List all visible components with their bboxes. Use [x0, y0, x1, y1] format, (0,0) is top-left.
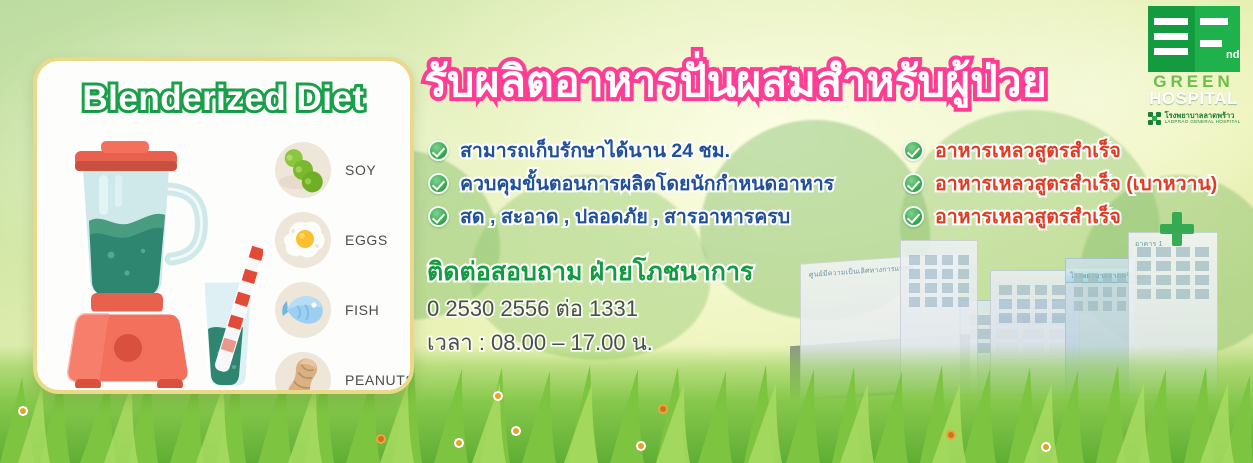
food-label: FISH: [345, 302, 379, 318]
logo-hospital-text: HOSPITAL: [1142, 90, 1245, 109]
feature-text: อาหารเหลวสูตรสำเร็จ: [935, 201, 1121, 232]
svg-text:nd: nd: [1226, 49, 1239, 61]
logo-hospital-name: โรงพยาบาลลาดพร้าว LADPRAO GENERAL HOSPIT…: [1142, 111, 1245, 126]
orange-flower: [370, 428, 392, 450]
food-label: EGGS: [345, 232, 388, 248]
feature-list-left: สามารถเก็บรักษาได้นาน 24 ชม. ควบคุมขั้นต…: [428, 136, 834, 235]
daisy-flower: [505, 420, 527, 442]
feature-item: อาหารเหลวสูตรสำเร็จ (เบาหวาน): [903, 169, 1217, 197]
building-sign-text: ศูนย์มีความเป็นเลิศทางการแพทย์: [809, 263, 913, 281]
contact-heading: ติดต่อสอบถาม ฝ่ายโภชนาการ: [427, 252, 753, 292]
feature-text: อาหารเหลวสูตรสำเร็จ (เบาหวาน): [935, 168, 1217, 199]
feature-text: สด , สะอาด , ปลอดภัย , สารอาหารครบ: [460, 201, 790, 232]
check-circle-icon: [428, 140, 449, 161]
page-title: รับผลิตอาหารปั่นผสมสำหรับผู้ป่วย: [424, 60, 1114, 105]
daisy-flower: [12, 400, 34, 422]
feature-text: ควบคุมขั้นตอนการผลิตโดยนักกำหนดอาหาร: [460, 168, 834, 199]
logo-green-text: GREEN: [1142, 73, 1245, 90]
food-list: SOY EGGS: [275, 135, 414, 394]
check-circle-icon: [903, 140, 924, 161]
feature-text: อาหารเหลวสูตรสำเร็จ: [935, 135, 1121, 166]
food-label: PEANUTS: [345, 372, 414, 388]
food-item-soy: SOY: [275, 135, 414, 205]
food-item-eggs: EGGS: [275, 205, 414, 275]
daisy-flower: [1035, 436, 1057, 458]
daisy-flower: [487, 385, 509, 407]
feature-item: ควบคุมขั้นตอนการผลิตโดยนักกำหนดอาหาร: [428, 169, 834, 197]
feature-item: สด , สะอาด , ปลอดภัย , สารอาหารครบ: [428, 202, 834, 230]
feature-item: อาหารเหลวสูตรสำเร็จ: [903, 136, 1217, 164]
feature-list-right: อาหารเหลวสูตรสำเร็จ อาหารเหลวสูตรสำเร็จ …: [903, 136, 1217, 235]
fish-icon: [275, 282, 331, 338]
blender-illustration: [53, 133, 263, 388]
banner-root: โรงพยาบาลลาดพร้าว อาคาร 1 ศูนย์มีความเป็…: [0, 0, 1253, 463]
check-circle-icon: [428, 206, 449, 227]
daisy-flower: [448, 432, 470, 454]
contact-hours: เวลา : 08.00 – 17.00 น.: [427, 325, 653, 360]
feature-item: อาหารเหลวสูตรสำเร็จ: [903, 202, 1217, 230]
hospital-logo[interactable]: nd GREEN HOSPITAL โรงพยาบาลลาดพร้าว LADP…: [1142, 6, 1245, 130]
feature-text: สามารถเก็บรักษาได้นาน 24 ชม.: [460, 135, 730, 166]
card-title: Blenderized Diet: [37, 79, 410, 119]
contact-phone[interactable]: 0 2530 2556 ต่อ 1331: [427, 291, 638, 326]
soy-icon: [275, 142, 331, 198]
food-item-peanuts: PEANUTS: [275, 345, 414, 394]
check-circle-icon: [428, 173, 449, 194]
logo-32nd-mark: nd: [1148, 6, 1240, 72]
check-circle-icon: [903, 206, 924, 227]
orange-flower: [940, 424, 962, 446]
food-label: SOY: [345, 162, 376, 178]
logo-english-name: LADPRAO GENERAL HOSPITAL: [1165, 120, 1241, 125]
eggs-icon: [275, 212, 331, 268]
peanuts-icon: [275, 352, 331, 394]
daisy-flower: [630, 435, 652, 457]
ladprao-emblem-icon: [1147, 111, 1162, 126]
check-circle-icon: [903, 173, 924, 194]
food-item-fish: FISH: [275, 275, 414, 345]
orange-flower: [652, 398, 674, 420]
feature-item: สามารถเก็บรักษาได้นาน 24 ชม.: [428, 136, 834, 164]
blenderized-diet-card: Blenderized Diet: [33, 57, 414, 394]
